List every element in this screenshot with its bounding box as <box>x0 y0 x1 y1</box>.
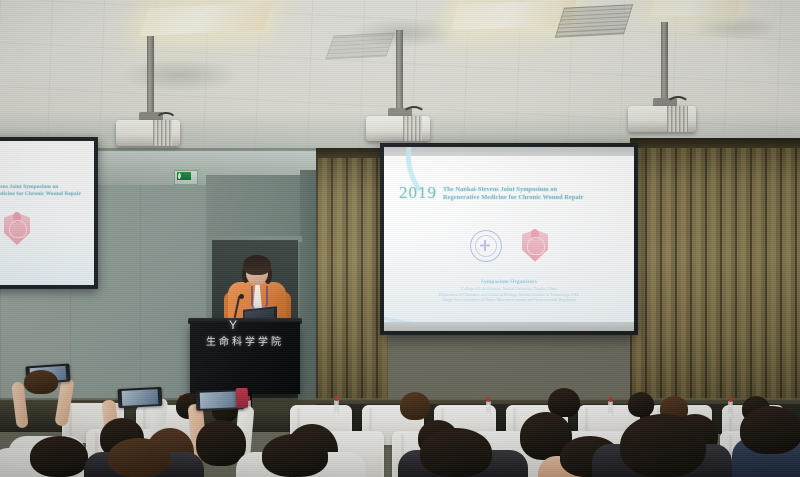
slide-title-lines: The Nankai-Stevens Joint Symposium on Re… <box>443 184 624 203</box>
secondary-slide-waves <box>0 223 94 285</box>
audience-head <box>30 436 88 477</box>
projector-pole-left <box>147 36 154 114</box>
slide-year: 2019 <box>399 184 437 201</box>
curtain-rail-right <box>630 138 800 148</box>
audience-head <box>108 438 170 477</box>
audience-phone-case <box>236 388 249 408</box>
curtain-rail-left <box>316 148 388 158</box>
water-bottle <box>334 400 339 416</box>
wave-arc <box>0 234 94 285</box>
projector-cable-left <box>155 112 177 130</box>
stage-curtain-right <box>630 140 800 420</box>
ceiling-air-vent <box>325 32 395 59</box>
audience-head <box>740 406 800 454</box>
main-screen-surface: 2019 The Nankai-Stevens Joint Symposium … <box>384 147 634 331</box>
microphone-head <box>239 294 244 299</box>
ceiling-stain <box>690 14 780 40</box>
slide-title-line-1: The Nankai-Stevens Joint Symposium on <box>443 186 624 194</box>
projector-pole-right <box>661 22 668 100</box>
phone-screen <box>200 391 241 408</box>
slide-title-block: 2019 The Nankai-Stevens Joint Symposium … <box>399 184 624 203</box>
audience-head <box>262 434 328 477</box>
ceiling-air-vent <box>555 4 634 38</box>
audience-head <box>400 392 430 420</box>
ceiling-light-panel <box>650 0 739 16</box>
projector-cable-center <box>402 106 426 125</box>
audience-head <box>628 392 654 417</box>
stage-curtain-left <box>316 150 388 415</box>
slide-title-line-2: Regenerative Medicine for Chronic Wound … <box>443 194 624 202</box>
conference-hall-photo: The Nankai-Stevens Joint Symposium on Re… <box>0 0 800 477</box>
screen-bottom-band <box>384 322 634 331</box>
podium-sign-text: 生命科学学院 <box>196 333 294 348</box>
secondary-slide-title: The Nankai-Stevens Joint Symposium on Re… <box>0 184 94 198</box>
audience-head <box>420 428 492 477</box>
audience-head <box>620 414 706 477</box>
ceiling-stain <box>120 58 240 92</box>
water-bottle <box>486 401 491 417</box>
wave-arc <box>384 258 634 322</box>
audience-head <box>24 370 58 394</box>
secondary-projection-screen: The Nankai-Stevens Joint Symposium on Re… <box>0 137 98 289</box>
podium-emblem-icon: Y <box>227 319 239 331</box>
speaker-hair <box>243 255 271 275</box>
phone-screen <box>121 389 159 406</box>
audience-phone <box>118 387 163 408</box>
projector-cable-right <box>666 96 690 115</box>
water-bottle <box>728 401 733 417</box>
slide-wave-graphic <box>384 226 634 322</box>
secondary-title-line-2: Regenerative Medicine for Chronic Wound … <box>0 191 94 198</box>
main-projection-screen: 2019 The Nankai-Stevens Joint Symposium … <box>380 143 638 335</box>
projector-pole-center <box>396 30 403 110</box>
water-bottle <box>608 401 613 417</box>
secondary-screen-surface: The Nankai-Stevens Joint Symposium on Re… <box>0 141 94 285</box>
